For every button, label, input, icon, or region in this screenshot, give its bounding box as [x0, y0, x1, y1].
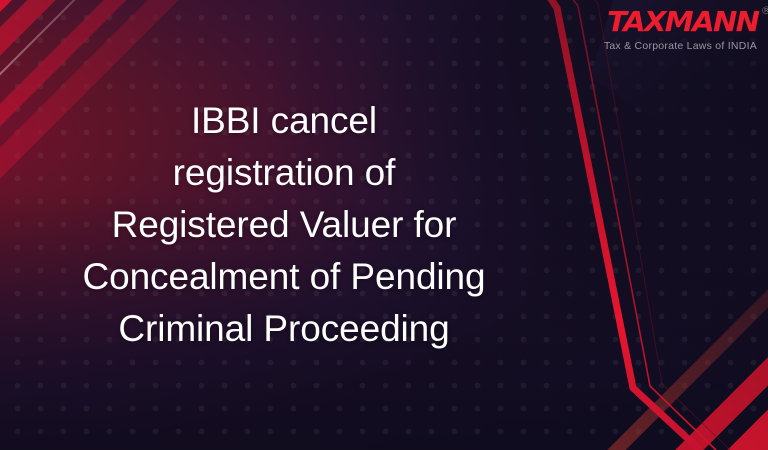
logo-wordmark: TAXMANN® [607, 8, 758, 36]
headline-line-2: registration of [173, 147, 396, 199]
headline-line-4: Concealment of Pending [82, 251, 485, 303]
registered-trademark-icon: ® [760, 5, 768, 16]
headline-line-3: Registered Valuer for [112, 199, 457, 251]
news-banner: IBBI cancel registration of Registered V… [0, 0, 768, 450]
taxmann-logo[interactable]: TAXMANN® Tax & Corporate Laws of INDIA [604, 8, 758, 52]
headline-block: IBBI cancel registration of Registered V… [14, 0, 554, 450]
headline-line-5: Criminal Proceeding [118, 303, 449, 355]
logo-tagline: Tax & Corporate Laws of INDIA [604, 41, 757, 52]
headline-line-1: IBBI cancel [191, 95, 377, 147]
